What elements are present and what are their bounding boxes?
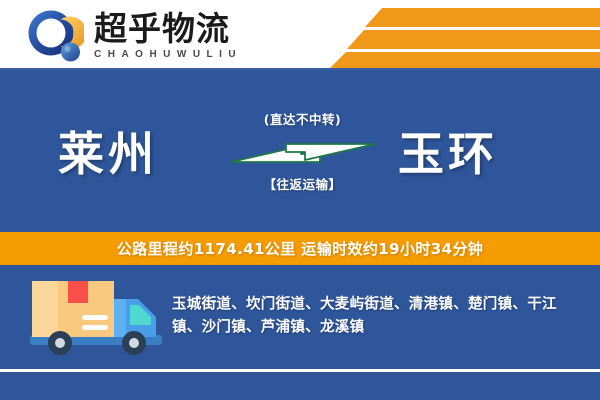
- company-name-cn: 超乎物流: [94, 12, 242, 47]
- logistics-route-banner: 超乎物流 CHAOHUWULIU 莱州 (直达不中转) 【往返运输】: [0, 0, 600, 400]
- logo-wordmark: 超乎物流 CHAOHUWULIU: [94, 12, 242, 61]
- company-name-en: CHAOHUWULIU: [94, 49, 242, 60]
- delivery-truck-icon: [26, 275, 166, 361]
- destination-city: 玉环: [398, 118, 498, 184]
- route-note-direct: (直达不中转): [264, 109, 341, 128]
- origin-city: 莱州: [58, 118, 158, 184]
- orange-stripes-decoration-icon: [330, 0, 600, 70]
- circle-crescent-logo-icon: [26, 8, 84, 64]
- distance-duration-bar: 公路里程约1174.41公里 运输时效约19小时34分钟: [0, 232, 600, 265]
- bidirectional-arrow-icon: [228, 134, 378, 168]
- distance-duration-text: 公路里程约1174.41公里 运输时效约19小时34分钟: [117, 238, 484, 259]
- coverage-area-section: 玉城街道、坎门街道、大麦屿街道、清港镇、楚门镇、干江镇、沙门镇、芦浦镇、龙溪镇: [0, 265, 600, 369]
- route-note-roundtrip: 【往返运输】: [263, 174, 341, 193]
- route-panel: 莱州 (直达不中转) 【往返运输】 玉环: [0, 70, 600, 232]
- route-middle: (直达不中转) 【往返运输】: [225, 70, 380, 232]
- banner-header: 超乎物流 CHAOHUWULIU: [0, 0, 600, 70]
- company-logo: 超乎物流 CHAOHUWULIU: [26, 8, 242, 64]
- footer-band: [0, 372, 600, 400]
- coverage-area-list: 玉城街道、坎门街道、大麦屿街道、清港镇、楚门镇、干江镇、沙门镇、芦浦镇、龙溪镇: [172, 294, 584, 341]
